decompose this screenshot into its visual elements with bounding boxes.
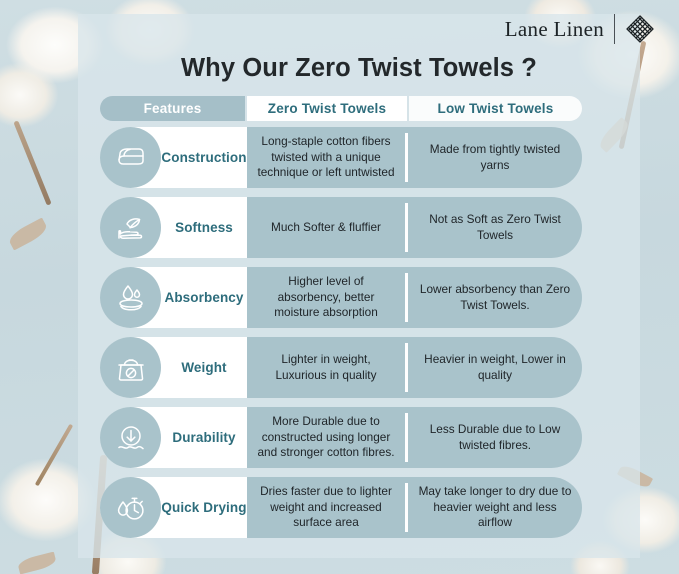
icon-badge — [100, 407, 161, 468]
feature-cell: Softness — [100, 197, 247, 258]
feature-label: Durability — [161, 430, 247, 446]
low-twist-value: Made from tightly twisted yarns — [408, 127, 582, 188]
table-header-row: Features Zero Twist Towels Low Twist Tow… — [100, 96, 582, 121]
water-droplet-absorb-icon — [114, 281, 148, 315]
feature-cell: Durability — [100, 407, 247, 468]
cotton-husk — [7, 218, 50, 251]
icon-badge — [100, 477, 161, 538]
zero-twist-value: Dries faster due to lighter weight and i… — [247, 477, 405, 538]
feature-label: Quick Drying — [161, 500, 247, 516]
table-row: Absorbency Higher level of absorbency, b… — [100, 267, 582, 328]
feature-cell: Weight — [100, 337, 247, 398]
table-row: Quick Drying Dries faster due to lighter… — [100, 477, 582, 538]
icon-badge — [100, 337, 161, 398]
column-header-low-twist-towels: Low Twist Towels — [409, 96, 582, 121]
page-title: Why Our Zero Twist Towels ? — [78, 54, 640, 83]
table-row: Durability More Durable due to construct… — [100, 407, 582, 468]
feature-label: Absorbency — [161, 290, 247, 306]
low-twist-value: May take longer to dry due to heavier we… — [408, 477, 582, 538]
zero-twist-value: Higher level of absorbency, better moist… — [247, 267, 405, 328]
icon-badge — [100, 267, 161, 328]
cotton-husk — [17, 552, 57, 574]
zero-twist-value: Long-staple cotton fibers twisted with a… — [247, 127, 405, 188]
woven-lattice-logo-icon — [625, 14, 655, 44]
feature-cell: Absorbency — [100, 267, 247, 328]
brand-logo: Lane Linen — [505, 14, 655, 44]
feature-cell: Quick Drying — [100, 477, 247, 538]
table-row: Weight Lighter in weight, Luxurious in q… — [100, 337, 582, 398]
hand-feather-icon — [114, 211, 148, 245]
low-twist-value: Lower absorbency than Zero Twist Towels. — [408, 267, 582, 328]
feature-label: Construction — [161, 150, 247, 166]
cotton-stem — [13, 120, 51, 205]
folded-towel-icon — [114, 141, 148, 175]
zero-twist-value: More Durable due to constructed using lo… — [247, 407, 405, 468]
table-row: Softness Much Softer & fluffier Not as S… — [100, 197, 582, 258]
feature-label: Softness — [161, 220, 247, 236]
feature-label: Weight — [161, 360, 247, 376]
column-header-zero-twist-towels: Zero Twist Towels — [247, 96, 407, 121]
cotton-stem — [35, 424, 73, 487]
comparison-table: Features Zero Twist Towels Low Twist Tow… — [100, 96, 582, 547]
low-twist-value: Less Durable due to Low twisted fibres. — [408, 407, 582, 468]
low-twist-value: Not as Soft as Zero Twist Towels — [408, 197, 582, 258]
zero-twist-value: Much Softer & fluffier — [247, 197, 405, 258]
zero-twist-value: Lighter in weight, Luxurious in quality — [247, 337, 405, 398]
table-row: Construction Long-staple cotton fibers t… — [100, 127, 582, 188]
infographic-canvas: Lane Linen Why Our Zero Twist Towels ? F… — [0, 0, 679, 574]
durability-shield-arrow-icon — [114, 421, 148, 455]
icon-badge — [100, 127, 161, 188]
feature-cell: Construction — [100, 127, 247, 188]
icon-badge — [100, 197, 161, 258]
low-twist-value: Heavier in weight, Lower in quality — [408, 337, 582, 398]
brand-divider — [614, 14, 615, 44]
column-header-features: Features — [100, 96, 245, 121]
weighing-scale-icon — [114, 351, 148, 385]
droplet-stopwatch-icon — [114, 491, 148, 525]
brand-name: Lane Linen — [505, 17, 604, 42]
